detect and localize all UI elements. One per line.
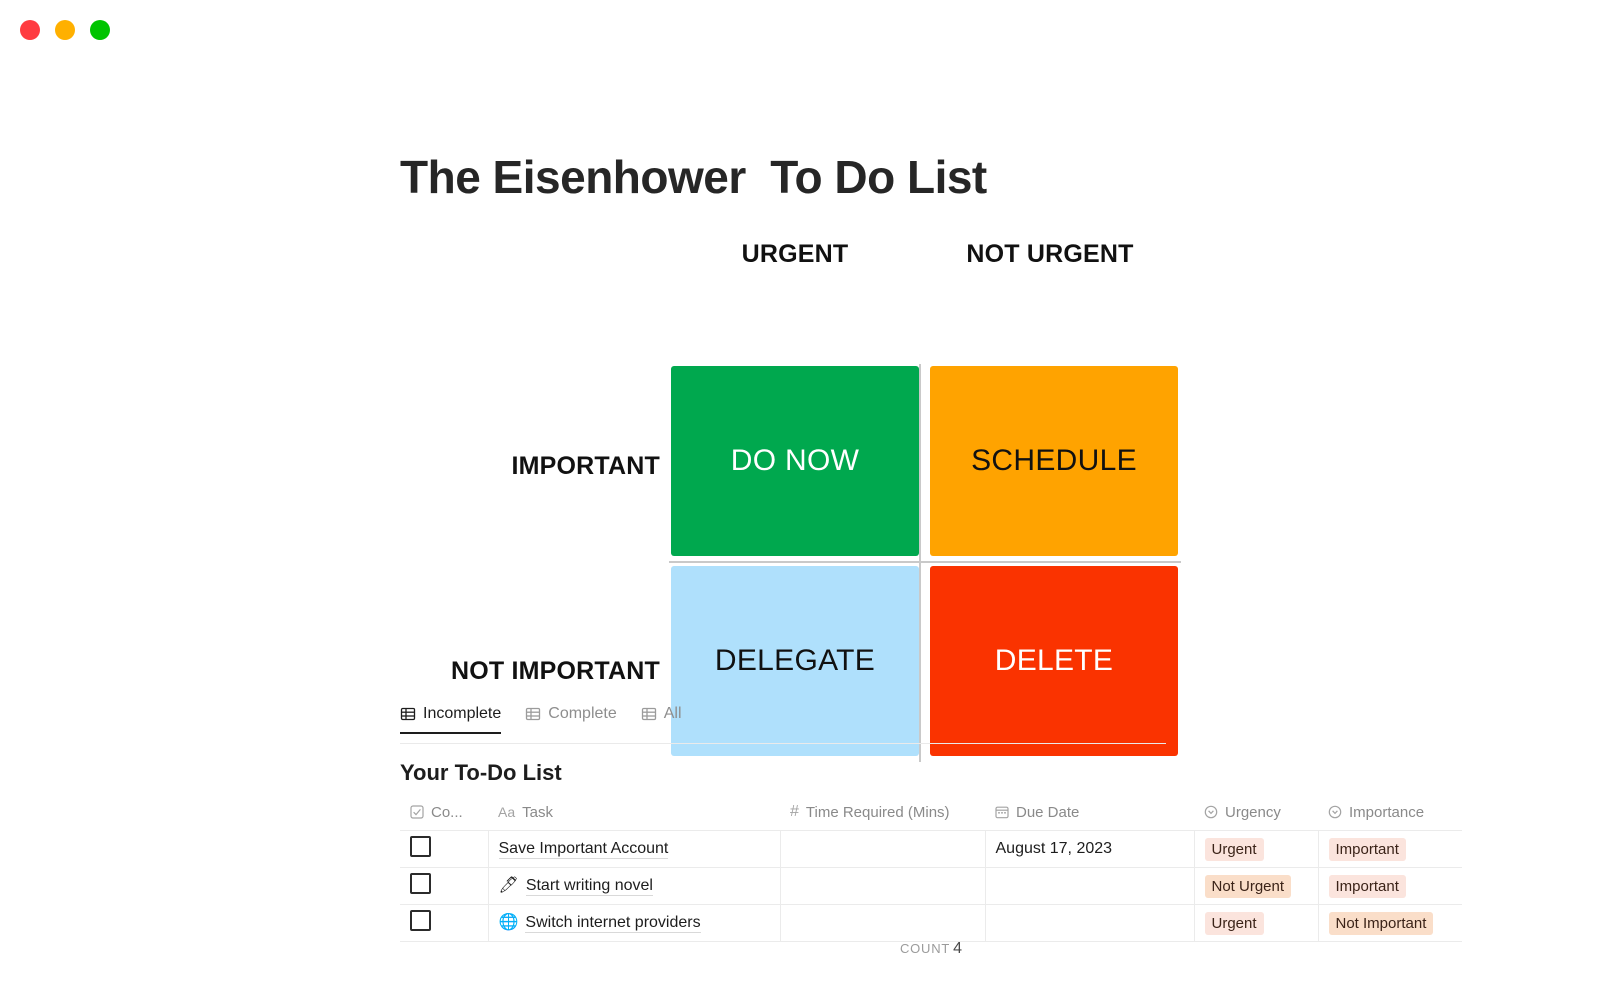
table-body: Save Important AccountAugust 17, 2023Urg… [400, 831, 1462, 942]
page-title: The Eisenhower To Do List [400, 150, 987, 204]
column-header-task[interactable]: Aa Task [488, 800, 780, 831]
checkbox-icon[interactable] [410, 910, 431, 931]
count-label: Count [900, 941, 950, 956]
due-date-cell[interactable]: August 17, 2023 [985, 831, 1194, 868]
table-header-row: Co... Aa Task # Time Required (Mins) [400, 800, 1462, 831]
importance-tag: Important [1329, 875, 1406, 898]
urgency-tag: Urgent [1205, 912, 1264, 935]
column-header-label: Urgency [1225, 804, 1281, 821]
column-header-label: Due Date [1016, 804, 1079, 821]
urgency-cell[interactable]: Urgent [1194, 831, 1318, 868]
traffic-light-group [20, 20, 110, 40]
todo-table: Co... Aa Task # Time Required (Mins) [400, 800, 1462, 942]
column-header-importance[interactable]: Importance [1318, 800, 1462, 831]
matrix-quadrant-schedule[interactable]: SCHEDULE [930, 366, 1178, 556]
time-required-cell[interactable] [780, 868, 985, 905]
column-header-time-required[interactable]: # Time Required (Mins) [780, 800, 985, 831]
tab-incomplete[interactable]: Incomplete [400, 705, 501, 734]
matrix-quadrant-do-now[interactable]: DO NOW [671, 366, 919, 556]
tab-label: Complete [548, 705, 616, 723]
table-icon [641, 706, 657, 722]
urgency-cell[interactable]: Urgent [1194, 905, 1318, 942]
task-title[interactable]: Switch internet providers [525, 914, 700, 933]
close-button[interactable] [20, 20, 40, 40]
tab-all[interactable]: All [641, 705, 682, 732]
select-chevron-icon [1328, 805, 1342, 819]
select-chevron-icon [1204, 805, 1218, 819]
number-hash-icon: # [790, 803, 799, 821]
importance-cell[interactable]: Important [1318, 868, 1462, 905]
checkbox-icon[interactable] [410, 873, 431, 894]
minimize-button[interactable] [55, 20, 75, 40]
column-header-label: Time Required (Mins) [806, 804, 950, 821]
column-header-label: Importance [1349, 804, 1424, 821]
matrix-column-header-not-urgent: NOT URGENT [925, 240, 1175, 269]
row-checkbox-cell[interactable] [400, 868, 488, 905]
table-icon [400, 706, 416, 722]
importance-cell[interactable]: Important [1318, 831, 1462, 868]
importance-tag: Important [1329, 838, 1406, 861]
urgency-cell[interactable]: Not Urgent [1194, 868, 1318, 905]
matrix-row-header-important: IMPORTANT [400, 452, 660, 481]
calendar-icon [995, 805, 1009, 819]
column-header-label: Co... [431, 804, 463, 821]
due-date-cell[interactable] [985, 868, 1194, 905]
window-titlebar [0, 0, 1600, 60]
row-checkbox-cell[interactable] [400, 905, 488, 942]
importance-cell[interactable]: Not Important [1318, 905, 1462, 942]
count-value: 4 [953, 940, 962, 957]
tab-complete[interactable]: Complete [525, 705, 616, 732]
matrix-row-header-not-important: NOT IMPORTANT [400, 657, 660, 686]
checkbox-icon[interactable] [410, 836, 431, 857]
table-row[interactable]: 🌐Switch internet providersUrgentNot Impo… [400, 905, 1462, 942]
time-required-cell[interactable] [780, 831, 985, 868]
importance-tag: Not Important [1329, 912, 1434, 935]
table-row[interactable]: Save Important AccountAugust 17, 2023Urg… [400, 831, 1462, 868]
zoom-button[interactable] [90, 20, 110, 40]
tab-label: All [664, 705, 682, 723]
task-emoji-icon: 🖊 [499, 878, 519, 894]
due-date-cell[interactable] [985, 905, 1194, 942]
list-title: Your To-Do List [400, 760, 562, 786]
column-header-urgency[interactable]: Urgency [1194, 800, 1318, 831]
checkbox-icon [410, 805, 424, 819]
task-cell[interactable]: Save Important Account [488, 831, 780, 868]
table-row[interactable]: 🖊Start writing novelNot UrgentImportant [400, 868, 1462, 905]
text-aa-icon: Aa [498, 804, 515, 820]
table-icon [525, 706, 541, 722]
task-cell[interactable]: 🖊Start writing novel [488, 868, 780, 905]
column-header-label: Task [522, 804, 553, 821]
time-required-cell[interactable] [780, 905, 985, 942]
column-header-completed[interactable]: Co... [400, 800, 488, 831]
table-footer-count: Count4 [400, 940, 1462, 958]
column-header-due-date[interactable]: Due Date [985, 800, 1194, 831]
urgency-tag: Urgent [1205, 838, 1264, 861]
matrix-horizontal-divider [669, 561, 1181, 563]
row-checkbox-cell[interactable] [400, 831, 488, 868]
task-cell[interactable]: 🌐Switch internet providers [488, 905, 780, 942]
task-title[interactable]: Start writing novel [526, 877, 653, 896]
urgency-tag: Not Urgent [1205, 875, 1292, 898]
task-emoji-icon: 🌐 [499, 915, 519, 931]
tab-label: Incomplete [423, 705, 501, 723]
matrix-column-header-urgent: URGENT [670, 240, 920, 269]
eisenhower-matrix: URGENT NOT URGENT IMPORTANT NOT IMPORTAN… [390, 240, 1180, 700]
matrix-vertical-divider [919, 364, 921, 762]
page-content: The Eisenhower To Do List URGENT NOT URG… [0, 60, 1600, 1000]
task-title[interactable]: Save Important Account [499, 840, 669, 859]
view-tabs: Incomplete Complete [400, 705, 1166, 744]
